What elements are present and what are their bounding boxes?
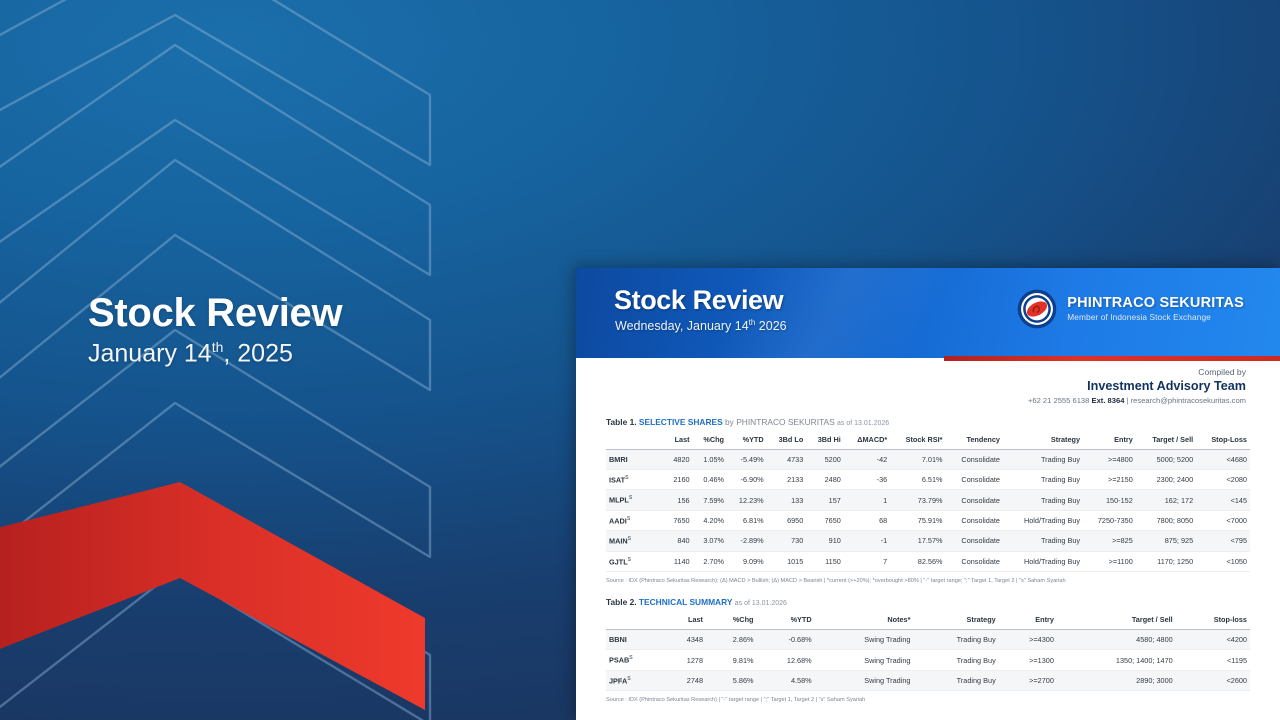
- cell-chg: 2.86%: [706, 630, 757, 650]
- table2-section: Table 2. TECHNICAL SUMMARY as of 13.01.2…: [576, 597, 1280, 704]
- cell-ytd: 4.58%: [757, 670, 815, 690]
- logo-tagline: Member of Indonesia Stock Exchange: [1067, 313, 1244, 323]
- column-header: Stop-Loss: [1196, 431, 1250, 450]
- title-block: Stock Review January 14th, 2025: [88, 292, 508, 368]
- cell-ytd: -2.89%: [727, 531, 767, 551]
- cell-chg: 3.07%: [693, 531, 727, 551]
- cell-ticker: AADIS: [606, 510, 664, 530]
- cell-strategy: Trading Buy: [913, 670, 998, 690]
- cell-strategy: Trading Buy: [913, 650, 998, 670]
- cell-ticker: BBNI: [606, 630, 664, 650]
- cell-chg: 1.05%: [693, 450, 727, 470]
- cell-hi: 1150: [806, 551, 844, 571]
- cell-tendency: Consolidate: [946, 531, 1003, 551]
- table2-caption-name: TECHNICAL SUMMARY: [639, 597, 733, 607]
- cell-target: 1350; 1400; 1470: [1057, 650, 1176, 670]
- table1-caption-asof: as of 13.01.2026: [837, 420, 889, 427]
- cell-entry: 150-152: [1083, 490, 1136, 510]
- cell-macd: 7: [844, 551, 890, 571]
- table2-caption: Table 2. TECHNICAL SUMMARY as of 13.01.2…: [606, 597, 1250, 607]
- cell-tendency: Consolidate: [946, 450, 1003, 470]
- cell-ticker: PSABS: [606, 650, 664, 670]
- cell-hi: 910: [806, 531, 844, 551]
- cell-macd: 68: [844, 510, 890, 530]
- cell-entry: >=4800: [1083, 450, 1136, 470]
- table-selective-shares: Last%Chg%YTD3Bd Lo3Bd HiΔMACD*Stock RSI*…: [606, 431, 1250, 572]
- table-row[interactable]: BBNI43482.86%-0.68%Swing TradingTrading …: [606, 630, 1250, 650]
- cell-ticker: MAINS: [606, 531, 664, 551]
- table2-head: Last%Chg%YTDNotes*StrategyEntryTarget / …: [606, 611, 1250, 630]
- cell-ytd: 9.09%: [727, 551, 767, 571]
- cell-chg: 0.46%: [693, 470, 727, 490]
- table-row[interactable]: JPFAS27485.86%4.58%Swing TradingTrading …: [606, 670, 1250, 690]
- contact-email: research@phintracosekuritas.com: [1131, 396, 1246, 405]
- cell-stop: <2080: [1196, 470, 1250, 490]
- column-header: Last: [664, 611, 706, 630]
- cell-notes: Swing Trading: [815, 650, 914, 670]
- cell-tendency: Consolidate: [946, 490, 1003, 510]
- cell-stop: <795: [1196, 531, 1250, 551]
- column-header: Strategy: [913, 611, 998, 630]
- cell-strategy: Hold/Trading Buy: [1003, 510, 1083, 530]
- document-date: Wednesday, January 14th 2026: [615, 318, 787, 333]
- cell-hi: 157: [806, 490, 844, 510]
- column-header: Strategy: [1003, 431, 1083, 450]
- cell-stop: <7000: [1196, 510, 1250, 530]
- cell-rsi: 73.79%: [890, 490, 945, 510]
- slide-date-main: January 14: [88, 340, 212, 368]
- document-preview[interactable]: Stock Review Wednesday, January 14th 202…: [576, 268, 1280, 720]
- table-row[interactable]: GJTLS11402.70%9.09%10151150782.56%Consol…: [606, 551, 1250, 571]
- cell-target: 1170; 1250: [1136, 551, 1196, 571]
- cell-target: 875; 925: [1136, 531, 1196, 551]
- cell-strategy: Trading Buy: [1003, 531, 1083, 551]
- cell-strategy: Hold/Trading Buy: [1003, 551, 1083, 571]
- cell-lo: 4733: [767, 450, 807, 470]
- table1-source-note: Source : IDX (Phintraco Sekuritas Resear…: [606, 578, 1250, 585]
- table2-caption-asof: as of 13.01.2026: [735, 600, 787, 607]
- cell-last: 1140: [664, 551, 693, 571]
- cell-target: 162; 172: [1136, 490, 1196, 510]
- table-row[interactable]: PSABS12789.81%12.68%Swing TradingTrading…: [606, 650, 1250, 670]
- cell-ticker: BMRI: [606, 450, 664, 470]
- cell-target: 2890; 3000: [1057, 670, 1176, 690]
- table-row[interactable]: BMRI48201.05%-5.49%47335200-427.01%Conso…: [606, 450, 1250, 470]
- compiled-by-block: Compiled by Investment Advisory Team +62…: [576, 358, 1280, 405]
- table-row[interactable]: MLPLS1567.59%12.23%133157173.79%Consolid…: [606, 490, 1250, 510]
- cell-ticker: GJTLS: [606, 551, 664, 571]
- table-row[interactable]: AADIS76504.20%6.81%695076506875.91%Conso…: [606, 510, 1250, 530]
- column-header: Target / Sell: [1136, 431, 1196, 450]
- cell-macd: -1: [844, 531, 890, 551]
- logo-company-name: PHINTRACO SEKURITAS: [1067, 295, 1244, 312]
- cell-last: 4348: [664, 630, 706, 650]
- cell-last: 2748: [664, 670, 706, 690]
- cell-stop: <1050: [1196, 551, 1250, 571]
- contact-ext: Ext. 8364: [1092, 396, 1125, 405]
- cell-ytd: 6.81%: [727, 510, 767, 530]
- column-header: 3Bd Hi: [806, 431, 844, 450]
- cell-chg: 5.86%: [706, 670, 757, 690]
- cell-ticker: ISATS: [606, 470, 664, 490]
- column-header: [606, 431, 664, 450]
- column-header: Last: [664, 431, 693, 450]
- cell-entry: >=1100: [1083, 551, 1136, 571]
- column-header: ΔMACD*: [844, 431, 890, 450]
- document-date-ordinal: th: [749, 318, 756, 327]
- cell-hi: 5200: [806, 450, 844, 470]
- cell-ytd: 12.68%: [757, 650, 815, 670]
- cell-stop: <4680: [1196, 450, 1250, 470]
- contact-phone: +62 21 2555 6138: [1028, 396, 1089, 405]
- slide-date-ordinal: th: [212, 339, 224, 355]
- cell-macd: -42: [844, 450, 890, 470]
- phintraco-logo-icon: [1016, 288, 1058, 330]
- cell-entry: >=1300: [999, 650, 1057, 670]
- cell-lo: 6950: [767, 510, 807, 530]
- cell-target: 7800; 8050: [1136, 510, 1196, 530]
- document-header-banner: Stock Review Wednesday, January 14th 202…: [576, 268, 1280, 358]
- cell-chg: 9.81%: [706, 650, 757, 670]
- table2-body: BBNI43482.86%-0.68%Swing TradingTrading …: [606, 630, 1250, 691]
- contact-line: +62 21 2555 6138 Ext. 8364 | research@ph…: [576, 396, 1246, 405]
- table1-caption-by: by PHINTRACO SEKURITAS: [725, 417, 835, 427]
- column-header: Target / Sell: [1057, 611, 1176, 630]
- cell-tendency: Consolidate: [946, 551, 1003, 571]
- cell-chg: 2.70%: [693, 551, 727, 571]
- cell-entry: >=825: [1083, 531, 1136, 551]
- cell-ticker: MLPLS: [606, 490, 664, 510]
- document-date-suffix: 2026: [755, 319, 786, 333]
- cell-entry: >=2700: [999, 670, 1057, 690]
- column-header: %YTD: [727, 431, 767, 450]
- cell-last: 156: [664, 490, 693, 510]
- company-logo: PHINTRACO SEKURITAS Member of Indonesia …: [1016, 288, 1244, 330]
- cell-lo: 133: [767, 490, 807, 510]
- column-header: Stop-loss: [1176, 611, 1250, 630]
- cell-ytd: 12.23%: [727, 490, 767, 510]
- document-date-prefix: Wednesday, January 14: [615, 319, 749, 333]
- cell-hi: 2480: [806, 470, 844, 490]
- table-row[interactable]: MAINS8403.07%-2.89%730910-117.57%Consoli…: [606, 531, 1250, 551]
- cell-rsi: 7.01%: [890, 450, 945, 470]
- table-row[interactable]: ISATS21600.46%-6.90%21332480-366.51%Cons…: [606, 470, 1250, 490]
- column-header: Entry: [1083, 431, 1136, 450]
- cell-chg: 7.59%: [693, 490, 727, 510]
- table1-header-row: Last%Chg%YTD3Bd Lo3Bd HiΔMACD*Stock RSI*…: [606, 431, 1250, 450]
- document-title: Stock Review: [614, 285, 783, 316]
- slide-date-rest: , 2025: [223, 340, 293, 368]
- compiled-by-label: Compiled by: [576, 367, 1246, 377]
- cell-last: 840: [664, 531, 693, 551]
- cell-strategy: Trading Buy: [1003, 490, 1083, 510]
- cell-stop: <2600: [1176, 670, 1250, 690]
- cell-entry: >=4300: [999, 630, 1057, 650]
- cell-tendency: Consolidate: [946, 470, 1003, 490]
- column-header: Stock RSI*: [890, 431, 945, 450]
- cell-strategy: Trading Buy: [1003, 450, 1083, 470]
- table2-caption-lead: Table 2.: [606, 597, 637, 607]
- column-header: %Chg: [706, 611, 757, 630]
- table1-caption: Table 1. SELECTIVE SHARES by PHINTRACO S…: [606, 417, 1250, 427]
- cell-macd: -36: [844, 470, 890, 490]
- cell-strategy: Trading Buy: [1003, 470, 1083, 490]
- table-technical-summary: Last%Chg%YTDNotes*StrategyEntryTarget / …: [606, 611, 1250, 691]
- cell-ytd: -5.49%: [727, 450, 767, 470]
- table1-body: BMRI48201.05%-5.49%47335200-427.01%Conso…: [606, 450, 1250, 572]
- cell-stop: <4200: [1176, 630, 1250, 650]
- column-header: %Chg: [693, 431, 727, 450]
- cell-ytd: -0.68%: [757, 630, 815, 650]
- cell-stop: <1195: [1176, 650, 1250, 670]
- cell-target: 2300; 2400: [1136, 470, 1196, 490]
- cell-last: 4820: [664, 450, 693, 470]
- column-header: Notes*: [815, 611, 914, 630]
- table1-section: Table 1. SELECTIVE SHARES by PHINTRACO S…: [576, 417, 1280, 585]
- cell-ytd: -6.90%: [727, 470, 767, 490]
- table1-head: Last%Chg%YTD3Bd Lo3Bd HiΔMACD*Stock RSI*…: [606, 431, 1250, 450]
- cell-target: 5000; 5200: [1136, 450, 1196, 470]
- cell-notes: Swing Trading: [815, 630, 914, 650]
- page-title: Stock Review: [88, 292, 508, 335]
- cell-last: 2160: [664, 470, 693, 490]
- column-header: [606, 611, 664, 630]
- slide-subtitle: January 14th, 2025: [88, 339, 508, 368]
- cell-lo: 1015: [767, 551, 807, 571]
- cell-rsi: 75.91%: [890, 510, 945, 530]
- cell-lo: 2133: [767, 470, 807, 490]
- cell-ticker: JPFAS: [606, 670, 664, 690]
- column-header: Tendency: [946, 431, 1003, 450]
- cell-last: 1278: [664, 650, 706, 670]
- column-header: %YTD: [757, 611, 815, 630]
- cell-entry: 7250-7350: [1083, 510, 1136, 530]
- cell-rsi: 6.51%: [890, 470, 945, 490]
- table1-caption-name: SELECTIVE SHARES: [639, 417, 723, 427]
- table1-caption-lead: Table 1.: [606, 417, 637, 427]
- cell-rsi: 17.57%: [890, 531, 945, 551]
- header-red-rule: [944, 356, 1280, 361]
- column-header: Entry: [999, 611, 1057, 630]
- advisory-team-name: Investment Advisory Team: [576, 379, 1246, 393]
- cell-target: 4580; 4800: [1057, 630, 1176, 650]
- column-header: 3Bd Lo: [767, 431, 807, 450]
- cell-strategy: Trading Buy: [913, 630, 998, 650]
- cell-rsi: 82.56%: [890, 551, 945, 571]
- cell-tendency: Consolidate: [946, 510, 1003, 530]
- table2-source-note: Source : IDX (Phintraco Sekuritas Resear…: [606, 697, 1250, 704]
- cell-macd: 1: [844, 490, 890, 510]
- cell-notes: Swing Trading: [815, 670, 914, 690]
- table2-header-row: Last%Chg%YTDNotes*StrategyEntryTarget / …: [606, 611, 1250, 630]
- cell-entry: >=2150: [1083, 470, 1136, 490]
- cell-chg: 4.20%: [693, 510, 727, 530]
- cell-lo: 730: [767, 531, 807, 551]
- cell-stop: <145: [1196, 490, 1250, 510]
- cell-hi: 7650: [806, 510, 844, 530]
- cell-last: 7650: [664, 510, 693, 530]
